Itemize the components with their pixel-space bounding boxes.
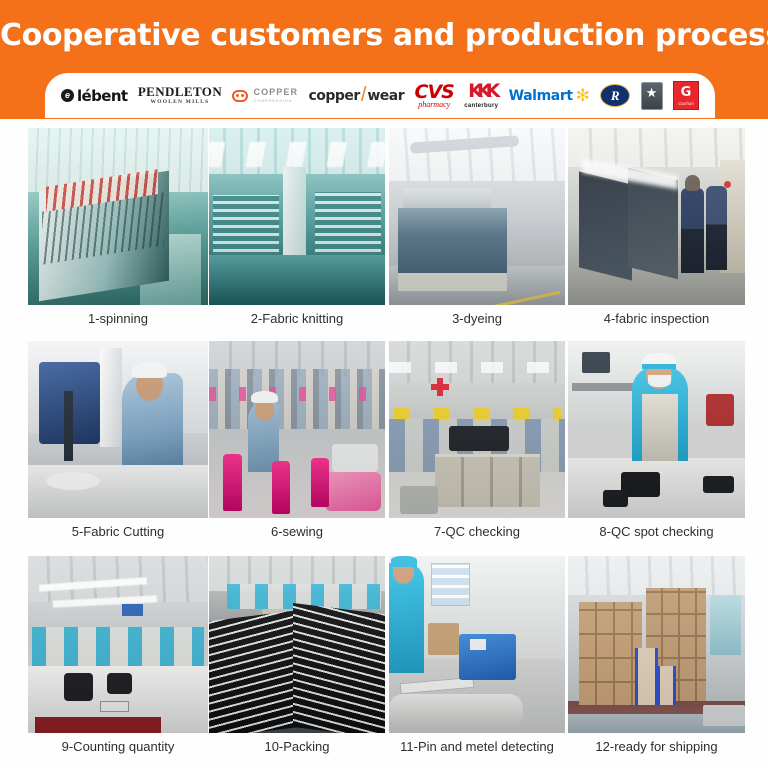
process-caption-fabric-cutting: 5-Fabric Cutting bbox=[28, 524, 208, 539]
production-process-grid: 1-spinning 2-Fabric knitting bbox=[0, 119, 768, 768]
scene-fabric-inspection bbox=[568, 128, 745, 305]
scene-fabric-cutting bbox=[28, 341, 208, 518]
copperwear-slash-icon: / bbox=[361, 84, 367, 107]
pendleton-wordmark: PENDLETON bbox=[138, 85, 222, 98]
process-caption-dyeing: 3-dyeing bbox=[389, 311, 565, 326]
canterbury-kkk-icon: KKK bbox=[468, 82, 494, 101]
process-photo-qc-spot-checking bbox=[568, 341, 745, 518]
process-row-2: 5-Fabric Cutting 6-sewing bbox=[0, 335, 768, 551]
copperwear-part1: copper bbox=[308, 88, 359, 104]
copper-mark-icon bbox=[232, 90, 248, 102]
logo-cvs-pharmacy[interactable]: CVS pharmacy bbox=[415, 79, 454, 113]
cvs-subline: pharmacy bbox=[418, 101, 450, 109]
logo-star-badge[interactable]: ★ bbox=[641, 82, 663, 110]
logo-r-badge[interactable]: R bbox=[600, 84, 630, 107]
process-photo-pin-metal-detect bbox=[389, 556, 565, 733]
scene-ready-shipping bbox=[568, 556, 745, 733]
logo-copperwear[interactable]: copper / wear bbox=[308, 79, 404, 113]
process-photo-spinning bbox=[28, 128, 208, 305]
process-photo-counting-quantity bbox=[28, 556, 208, 733]
process-caption-ready-shipping: 12-ready for shipping bbox=[568, 739, 745, 754]
process-cell-dyeing[interactable] bbox=[389, 128, 565, 305]
star-icon: ★ bbox=[646, 86, 658, 99]
scene-spinning bbox=[28, 128, 208, 305]
process-photo-fabric-cutting bbox=[28, 341, 208, 518]
header-banner: Cooperative customers and production pro… bbox=[0, 0, 768, 119]
scene-qc-checking bbox=[389, 341, 565, 518]
process-row-3: 9-Counting quantity 10-Packing bbox=[0, 551, 768, 768]
process-photo-packing bbox=[209, 556, 385, 733]
logo-lebent[interactable]: e lébent bbox=[61, 79, 127, 113]
process-photo-ready-shipping bbox=[568, 556, 745, 733]
pendleton-tagline: WOOLEN MILLS bbox=[151, 100, 210, 106]
scene-qc-spot-checking bbox=[568, 341, 745, 518]
process-caption-qc-checking: 7-QC checking bbox=[389, 524, 565, 539]
process-cell-fabric-knitting[interactable] bbox=[209, 128, 385, 305]
scene-fabric-knitting bbox=[209, 128, 385, 305]
process-cell-packing[interactable] bbox=[209, 556, 385, 733]
scene-counting-quantity bbox=[28, 556, 208, 733]
copperwear-part2: wear bbox=[367, 88, 404, 104]
process-cell-spinning[interactable] bbox=[28, 128, 208, 305]
g-badge-subline: Gushan bbox=[678, 101, 694, 106]
process-photo-qc-checking bbox=[389, 341, 565, 518]
logo-pendleton[interactable]: PENDLETON WOOLEN MILLS bbox=[138, 79, 222, 113]
customer-logo-strip: e lébent PENDLETON WOOLEN MILLS COPPER C… bbox=[45, 73, 715, 118]
process-caption-fabric-inspection: 4-fabric inspection bbox=[568, 311, 745, 326]
process-cell-ready-shipping[interactable] bbox=[568, 556, 745, 733]
logo-copper-compression[interactable]: COPPER COMPRESSION bbox=[232, 79, 298, 113]
process-photo-dyeing bbox=[389, 128, 565, 305]
process-cell-qc-spot-checking[interactable] bbox=[568, 341, 745, 518]
process-cell-fabric-inspection[interactable] bbox=[568, 128, 745, 305]
process-cell-pin-metal-detect[interactable] bbox=[389, 556, 565, 733]
scene-packing bbox=[209, 556, 385, 733]
process-photo-fabric-knitting bbox=[209, 128, 385, 305]
scene-sewing bbox=[209, 341, 385, 518]
scene-dyeing bbox=[389, 128, 565, 305]
page-root: Cooperative customers and production pro… bbox=[0, 0, 768, 768]
lebent-mark-icon: e bbox=[61, 89, 74, 102]
process-caption-qc-spot-checking: 8-QC spot checking bbox=[568, 524, 745, 539]
g-badge-letter: G bbox=[681, 86, 692, 99]
process-caption-counting-quantity: 9-Counting quantity bbox=[28, 739, 208, 754]
process-photo-sewing bbox=[209, 341, 385, 518]
process-cell-counting-quantity[interactable] bbox=[28, 556, 208, 733]
process-caption-packing: 10-Packing bbox=[209, 739, 385, 754]
walmart-wordmark: Walmart bbox=[509, 88, 573, 104]
logo-walmart[interactable]: Walmart ✻ bbox=[509, 79, 590, 113]
copper-subline: COMPRESSION bbox=[253, 99, 298, 103]
walmart-spark-icon: ✻ bbox=[576, 87, 590, 104]
copper-text: COPPER COMPRESSION bbox=[253, 88, 298, 103]
process-caption-spinning: 1-spinning bbox=[28, 311, 208, 326]
scene-pin-metal-detect bbox=[389, 556, 565, 733]
lebent-wordmark: lébent bbox=[77, 87, 127, 105]
process-caption-fabric-knitting: 2-Fabric knitting bbox=[209, 311, 385, 326]
process-cell-sewing[interactable] bbox=[209, 341, 385, 518]
r-badge-letter: R bbox=[611, 88, 620, 104]
process-caption-pin-metal-detect: 11-Pin and metel detecting bbox=[389, 739, 565, 754]
copper-wordmark: COPPER bbox=[253, 88, 298, 97]
cvs-wordmark: CVS bbox=[415, 83, 454, 102]
canterbury-wordmark: canterbury bbox=[464, 103, 498, 109]
process-caption-sewing: 6-sewing bbox=[209, 524, 385, 539]
logo-g-badge[interactable]: G Gushan bbox=[673, 81, 699, 110]
process-row-1: 1-spinning 2-Fabric knitting bbox=[0, 119, 768, 335]
process-photo-fabric-inspection bbox=[568, 128, 745, 305]
process-cell-qc-checking[interactable] bbox=[389, 341, 565, 518]
page-title: Cooperative customers and production pro… bbox=[0, 18, 768, 53]
process-cell-fabric-cutting[interactable] bbox=[28, 341, 208, 518]
logo-canterbury[interactable]: KKK canterbury bbox=[464, 79, 498, 113]
